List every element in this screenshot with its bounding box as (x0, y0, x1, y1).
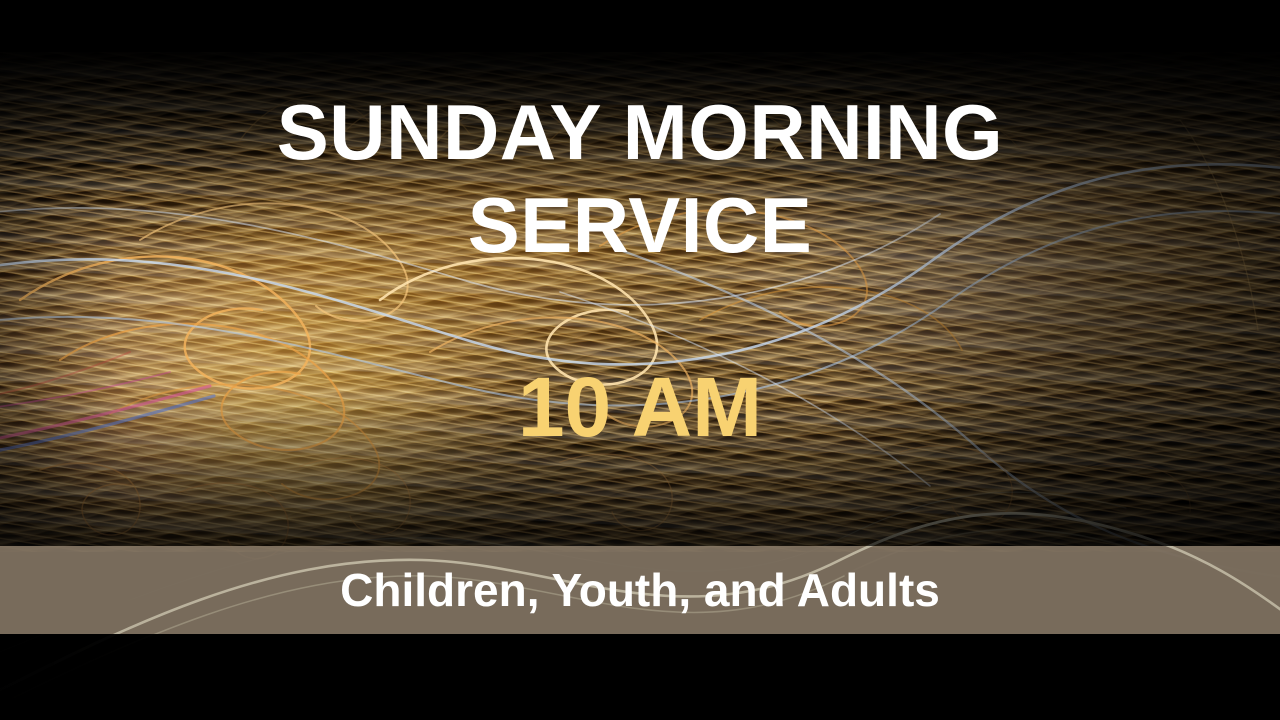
caption-band: Children, Youth, and Adults (0, 546, 1280, 634)
caption-text: Children, Youth, and Adults (340, 565, 940, 615)
slide-title: SUNDAY MORNING SERVICE (0, 86, 1280, 272)
title-line-2: SERVICE (0, 179, 1280, 272)
service-time: 10 AM (0, 362, 1280, 452)
service-time-text: 10 AM (0, 362, 1280, 452)
title-line-1: SUNDAY MORNING (0, 86, 1280, 179)
presentation-slide: SUNDAY MORNING SERVICE 10 AM Children, Y… (0, 0, 1280, 720)
